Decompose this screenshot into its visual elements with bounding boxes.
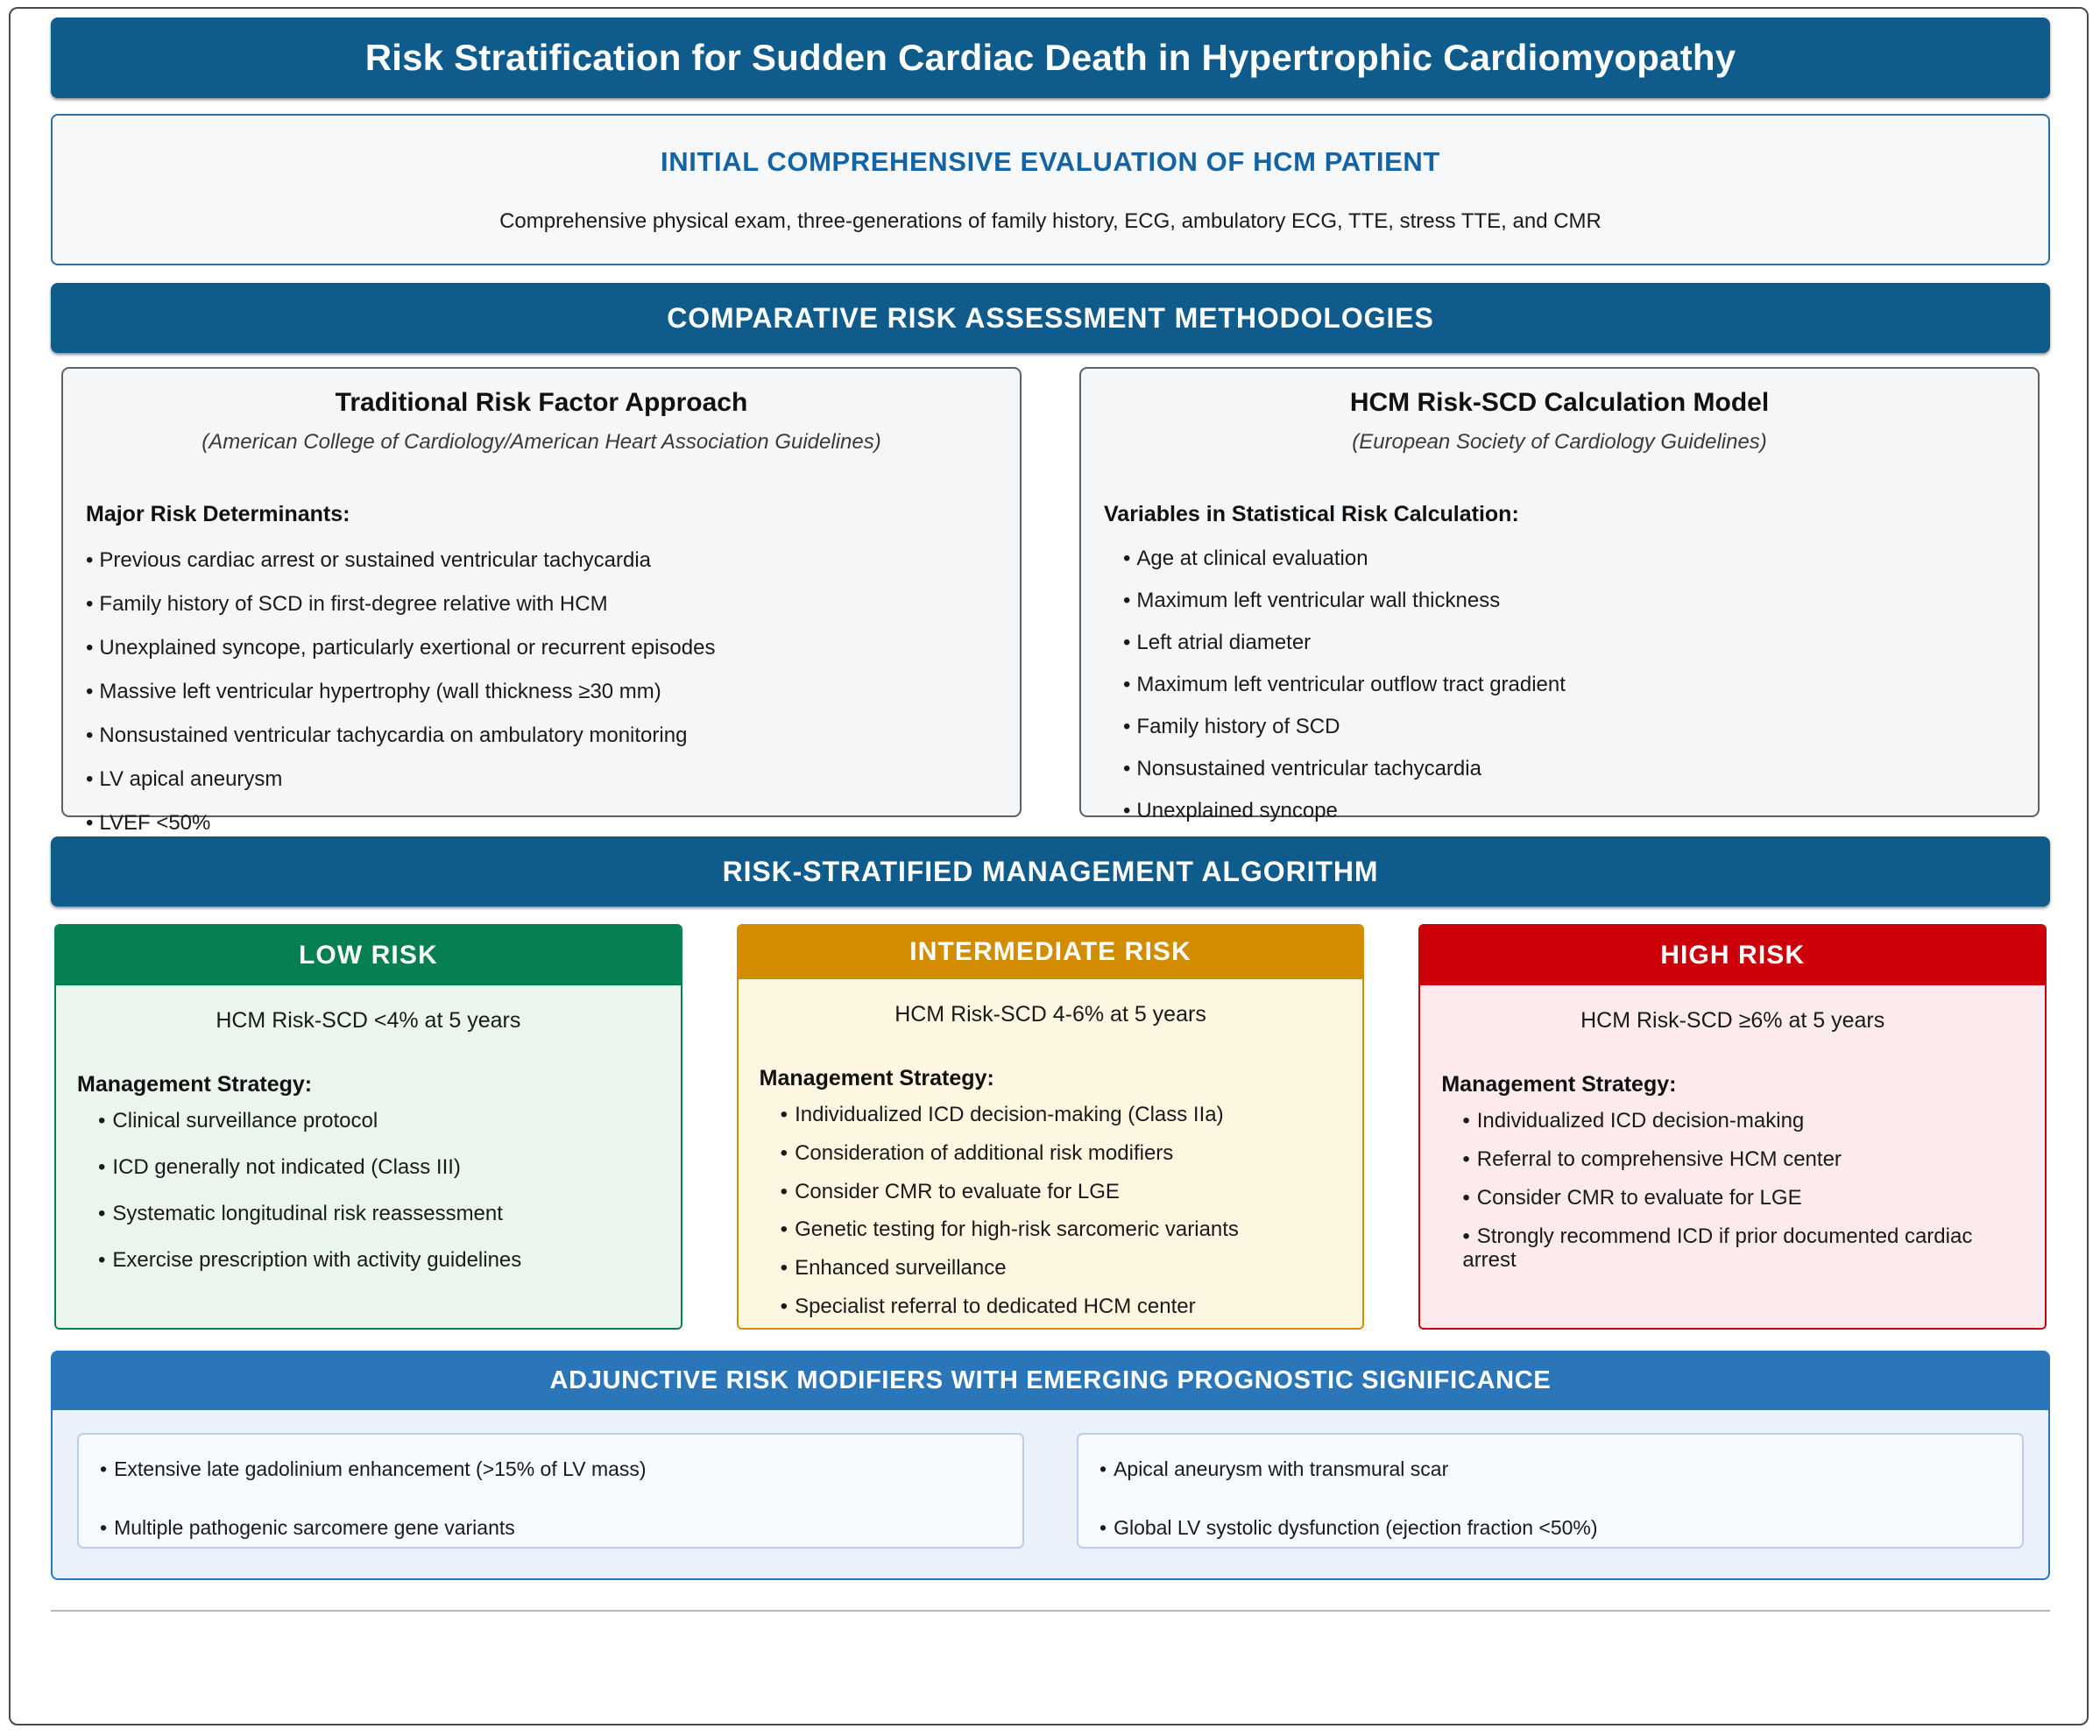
list-item-label: Multiple pathogenic sarcomere gene varia… [114,1516,515,1539]
bullet-icon: • [1123,673,1130,696]
list-item: •Family history of SCD in first-degree r… [86,594,997,615]
list-item: •Massive left ventricular hypertrophy (w… [86,681,997,702]
list-item-label: Extensive late gadolinium enhancement (>… [114,1457,647,1480]
list-item: •Family history of SCD [1104,716,2015,737]
card-title: HCM Risk-SCD Calculation Model [1104,388,2015,418]
list-item: •Apical aneurysm with transmural scar [1099,1457,2001,1481]
bullet-icon: • [98,1155,105,1179]
bullet-icon: • [1123,715,1130,738]
list-item: •Consider CMR to evaluate for LGE [781,1181,1342,1204]
list-item-label: Individualized ICD decision-making (Clas… [795,1103,1224,1126]
risk-cards-row: LOW RISK HCM Risk-SCD <4% at 5 years Man… [51,924,2050,1330]
bullet-icon: • [781,1256,788,1280]
list-item-label: Referral to comprehensive HCM center [1477,1147,1842,1171]
adjunctive-section-banner: ADJUNCTIVE RISK MODIFIERS WITH EMERGING … [51,1351,2050,1410]
bullet-icon: • [86,811,93,835]
list-item: •Previous cardiac arrest or sustained ve… [86,550,997,571]
list-item-label: Nonsustained ventricular tachycardia [1136,757,1481,780]
list-item-label: Genetic testing for high-risk sarcomeric… [795,1217,1239,1241]
list-item: •Enhanced surveillance [781,1257,1342,1281]
list-item: •LVEF <50% [86,813,997,834]
adjunctive-list-left: •Extensive late gadolinium enhancement (… [100,1457,1001,1540]
comparative-cards-row: Traditional Risk Factor Approach (Americ… [51,367,2050,817]
page-title: Risk Stratification for Sudden Cardiac D… [365,37,1736,79]
adjunctive-column-left: •Extensive late gadolinium enhancement (… [77,1433,1024,1549]
bullet-icon: • [1123,631,1130,654]
card-subtitle: (American College of Cardiology/American… [86,430,997,455]
figure-content: Risk Stratification for Sudden Cardiac D… [51,18,2050,1712]
list-item: •Genetic testing for high-risk sarcomeri… [781,1218,1342,1242]
strategy-heading: Management Strategy: [1441,1072,2024,1097]
bullet-icon: • [1123,799,1130,822]
bullet-icon: • [1123,547,1130,570]
strategy-heading: Management Strategy: [77,1072,660,1097]
high-risk-card: HIGH RISK HCM Risk-SCD ≥6% at 5 years Ma… [1418,924,2047,1330]
list-item: •Referral to comprehensive HCM center [1462,1148,2024,1172]
list-item: •Global LV systolic dysfunction (ejectio… [1099,1516,2001,1540]
bullet-icon: • [98,1248,105,1272]
adjunctive-list-right: •Apical aneurysm with transmural scar •G… [1099,1457,2001,1540]
bullet-icon: • [1123,589,1130,612]
list-item-label: Specialist referral to dedicated HCM cen… [795,1295,1196,1318]
bullet-icon: • [100,1457,107,1480]
list-item: •Individualized ICD decision-making (Cla… [781,1104,1342,1127]
high-risk-body: HCM Risk-SCD ≥6% at 5 years Management S… [1420,985,2045,1328]
bullet-icon: • [86,723,93,747]
card-subtitle: (European Society of Cardiology Guidelin… [1104,430,2015,455]
initial-evaluation-heading: INITIAL COMPREHENSIVE EVALUATION OF HCM … [661,146,1440,178]
bullet-icon: • [781,1141,788,1165]
intermediate-risk-card: INTERMEDIATE RISK HCM Risk-SCD 4-6% at 5… [737,924,1365,1330]
list-item-label: Consider CMR to evaluate for LGE [795,1180,1120,1203]
bullet-icon: • [86,592,93,616]
list-item-label: Systematic longitudinal risk reassessmen… [112,1202,503,1225]
list-item-label: Consider CMR to evaluate for LGE [1477,1186,1802,1210]
adjunctive-column-right: •Apical aneurysm with transmural scar •G… [1077,1433,2024,1549]
list-item: •Consideration of additional risk modifi… [781,1142,1342,1166]
bullet-icon: • [781,1180,788,1203]
list-item-label: ICD generally not indicated (Class III) [112,1155,461,1179]
list-item: •Exercise prescription with activity gui… [98,1249,660,1273]
list-item: •Clinical surveillance protocol [98,1110,660,1133]
adjunctive-section: ADJUNCTIVE RISK MODIFIERS WITH EMERGING … [51,1351,2050,1580]
list-item: •Systematic longitudinal risk reassessme… [98,1203,660,1226]
list-item-label: LVEF <50% [99,811,210,835]
list-item-label: Massive left ventricular hypertrophy (wa… [99,680,661,703]
bullet-icon: • [1462,1147,1469,1171]
intermediate-risk-header: INTERMEDIATE RISK [739,926,1363,979]
list-item-label: Age at clinical evaluation [1136,547,1368,570]
bottom-divider [51,1610,2050,1612]
list-item: •Multiple pathogenic sarcomere gene vari… [100,1516,1001,1540]
intermediate-risk-threshold: HCM Risk-SCD 4-6% at 5 years [760,1002,1342,1027]
list-item: •Unexplained syncope, particularly exert… [86,638,997,659]
adjunctive-banner-label: ADJUNCTIVE RISK MODIFIERS WITH EMERGING … [550,1366,1552,1395]
high-risk-header: HIGH RISK [1420,926,2045,985]
list-item-label: Strongly recommend ICD if prior document… [1462,1224,1972,1272]
card-list-heading: Major Risk Determinants: [86,502,997,527]
comparative-section-banner: COMPARATIVE RISK ASSESSMENT METHODOLOGIE… [51,283,2050,353]
strategy-heading: Management Strategy: [760,1066,1342,1091]
list-item-label: Maximum left ventricular outflow tract g… [1136,673,1566,696]
figure-frame: Risk Stratification for Sudden Cardiac D… [9,7,2089,1725]
low-risk-threshold: HCM Risk-SCD <4% at 5 years [77,1008,660,1034]
management-banner-label: RISK-STRATIFIED MANAGEMENT ALGORITHM [723,856,1379,888]
bullet-icon: • [86,680,93,703]
intermediate-risk-strategy-list: •Individualized ICD decision-making (Cla… [760,1104,1342,1319]
list-item: •Maximum left ventricular wall thickness [1104,590,2015,611]
list-item-label: Unexplained syncope [1136,799,1338,822]
list-item-label: Left atrial diameter [1136,631,1311,654]
list-item-label: LV apical aneurysm [99,767,282,791]
list-item-label: Enhanced surveillance [795,1256,1007,1280]
list-item-label: Maximum left ventricular wall thickness [1136,589,1500,612]
card-list-heading: Variables in Statistical Risk Calculatio… [1104,502,2015,527]
hcm-risk-scd-model-card: HCM Risk-SCD Calculation Model (European… [1079,367,2040,817]
list-item: •Left atrial diameter [1104,632,2015,653]
list-item: •Nonsustained ventricular tachycardia on… [86,725,997,746]
bullet-icon: • [1099,1516,1107,1539]
list-item-label: Consideration of additional risk modifie… [795,1141,1173,1165]
low-risk-card: LOW RISK HCM Risk-SCD <4% at 5 years Man… [54,924,682,1330]
high-risk-threshold: HCM Risk-SCD ≥6% at 5 years [1441,1008,2024,1034]
bullet-icon: • [86,548,93,572]
card-title: Traditional Risk Factor Approach [86,388,997,418]
bullet-icon: • [86,636,93,660]
list-item: •Individualized ICD decision-making [1462,1110,2024,1133]
low-risk-header: LOW RISK [56,926,681,985]
intermediate-risk-body: HCM Risk-SCD 4-6% at 5 years Management … [739,979,1363,1328]
bullet-icon: • [1462,1224,1469,1248]
list-item-label: Nonsustained ventricular tachycardia on … [99,723,687,747]
initial-evaluation-description: Comprehensive physical exam, three-gener… [499,209,1602,234]
bullet-icon: • [1462,1186,1469,1210]
bullet-icon: • [98,1109,105,1133]
list-item-label: Clinical surveillance protocol [112,1109,378,1133]
list-item-label: Exercise prescription with activity guid… [112,1248,521,1272]
list-item: •Maximum left ventricular outflow tract … [1104,674,2015,695]
initial-evaluation-box: INITIAL COMPREHENSIVE EVALUATION OF HCM … [51,114,2050,265]
traditional-risk-factor-card: Traditional Risk Factor Approach (Americ… [61,367,1022,817]
list-item: •Nonsustained ventricular tachycardia [1104,759,2015,780]
bullet-icon: • [1099,1457,1107,1480]
list-item: •Age at clinical evaluation [1104,548,2015,569]
management-section-banner: RISK-STRATIFIED MANAGEMENT ALGORITHM [51,836,2050,907]
list-item: •LV apical aneurysm [86,769,997,790]
list-item-label: Apical aneurysm with transmural scar [1114,1457,1448,1480]
list-item: •Strongly recommend ICD if prior documen… [1462,1225,2024,1273]
adjunctive-body: •Extensive late gadolinium enhancement (… [51,1410,2050,1580]
bullet-icon: • [781,1217,788,1241]
bullet-icon: • [86,767,93,791]
high-risk-strategy-list: •Individualized ICD decision-making •Ref… [1441,1110,2024,1272]
comparative-banner-label: COMPARATIVE RISK ASSESSMENT METHODOLOGIE… [667,302,1433,335]
list-item: •Unexplained syncope [1104,801,2015,822]
list-item-label: Family history of SCD in first-degree re… [99,592,607,616]
bullet-icon: • [781,1295,788,1318]
bullet-icon: • [1123,757,1130,780]
bullet-icon: • [98,1202,105,1225]
list-item: •ICD generally not indicated (Class III) [98,1156,660,1180]
list-item: •Specialist referral to dedicated HCM ce… [781,1295,1342,1319]
bullet-icon: • [781,1103,788,1126]
list-item-label: Individualized ICD decision-making [1477,1109,1805,1133]
bullet-icon: • [100,1516,107,1539]
list-item-label: Unexplained syncope, particularly exerti… [99,636,715,660]
list-item-label: Family history of SCD [1136,715,1340,738]
bullet-icon: • [1462,1109,1469,1133]
list-item: •Consider CMR to evaluate for LGE [1462,1187,2024,1210]
list-item-label: Global LV systolic dysfunction (ejection… [1114,1516,1597,1539]
figure-title-banner: Risk Stratification for Sudden Cardiac D… [51,18,2050,98]
low-risk-strategy-list: •Clinical surveillance protocol •ICD gen… [77,1110,660,1273]
risk-calculation-variables-list: •Age at clinical evaluation •Maximum lef… [1104,548,2015,822]
list-item-label: Previous cardiac arrest or sustained ven… [99,548,651,572]
low-risk-body: HCM Risk-SCD <4% at 5 years Management S… [56,985,681,1328]
list-item: •Extensive late gadolinium enhancement (… [100,1457,1001,1481]
major-risk-determinants-list: •Previous cardiac arrest or sustained ve… [86,550,997,834]
